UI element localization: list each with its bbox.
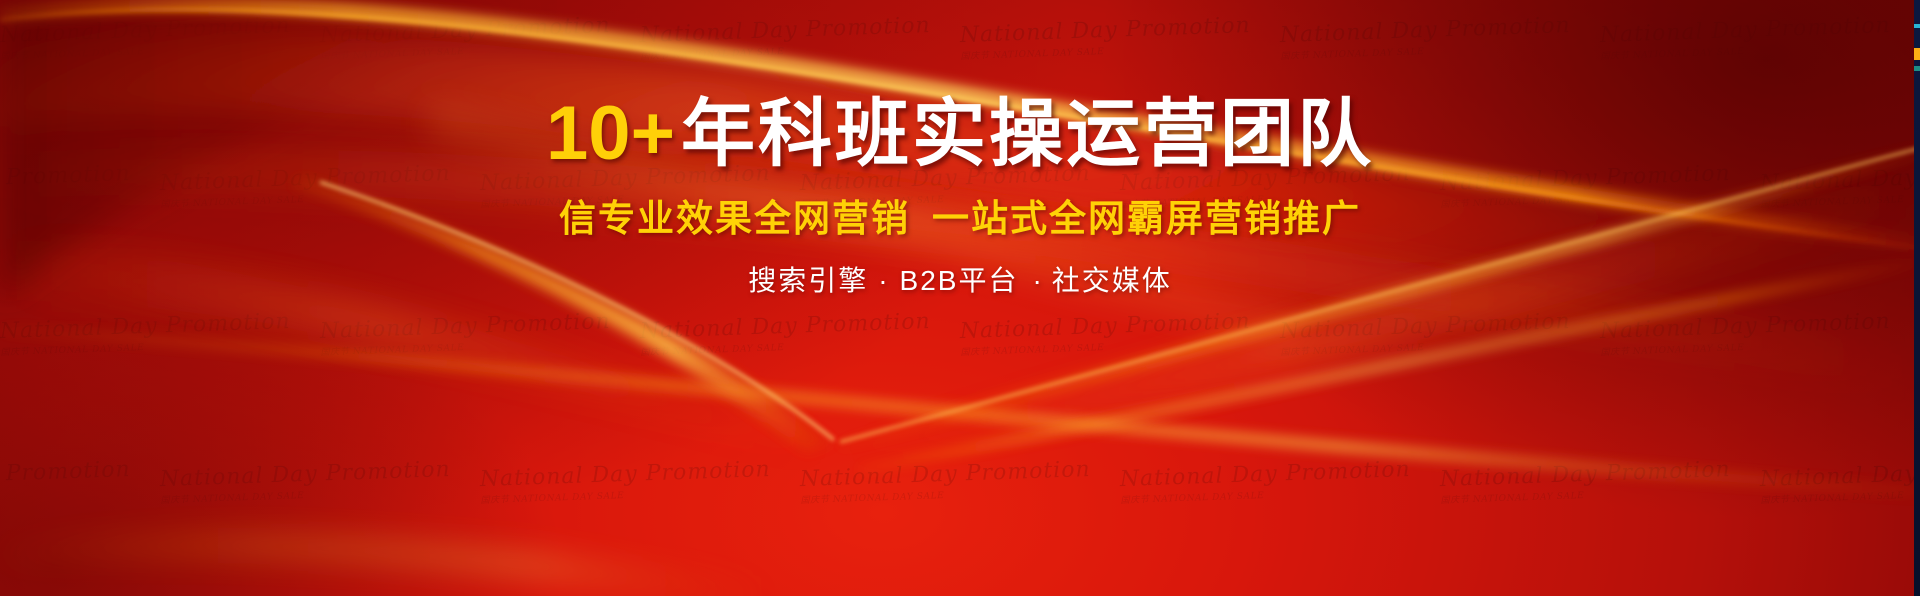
headline-text: 年科班实操运营团队 xyxy=(681,92,1374,175)
headline-block: 10+年科班实操运营团队 信专业效果全网营销一站式全网霸屏营销推广 搜索引擎·B… xyxy=(0,96,1920,295)
banner-headline: 10+年科班实操运营团队 xyxy=(0,96,1920,172)
strip-pixel-cyan xyxy=(1914,24,1920,28)
strip-pixel-teal xyxy=(1914,66,1920,71)
subtitle-part-2: 一站式全网霸屏营销推广 xyxy=(932,198,1361,239)
tagline-item-search-engine: 搜索引擎 xyxy=(748,265,868,296)
banner-tagline: 搜索引擎·B2B平台·社交媒体 xyxy=(0,267,1920,295)
banner-subtitle: 信专业效果全网营销一站式全网霸屏营销推广 xyxy=(0,200,1920,237)
tagline-item-b2b-platform: B2B平台 xyxy=(900,265,1019,296)
ribbon-swoosh-graphics xyxy=(0,0,1920,596)
subtitle-part-1: 信专业效果全网营销 xyxy=(559,198,910,239)
promo-banner: National Day Promotion国庆节 NATIONAL DAY S… xyxy=(0,0,1920,596)
strip-pixel-gold xyxy=(1914,48,1920,60)
headline-number: 10+ xyxy=(546,91,675,176)
tagline-item-social-media: 社交媒体 xyxy=(1052,265,1172,296)
tagline-separator-2: · xyxy=(1032,265,1043,296)
tagline-separator-1: · xyxy=(878,265,889,296)
right-edge-strip xyxy=(1914,0,1920,596)
